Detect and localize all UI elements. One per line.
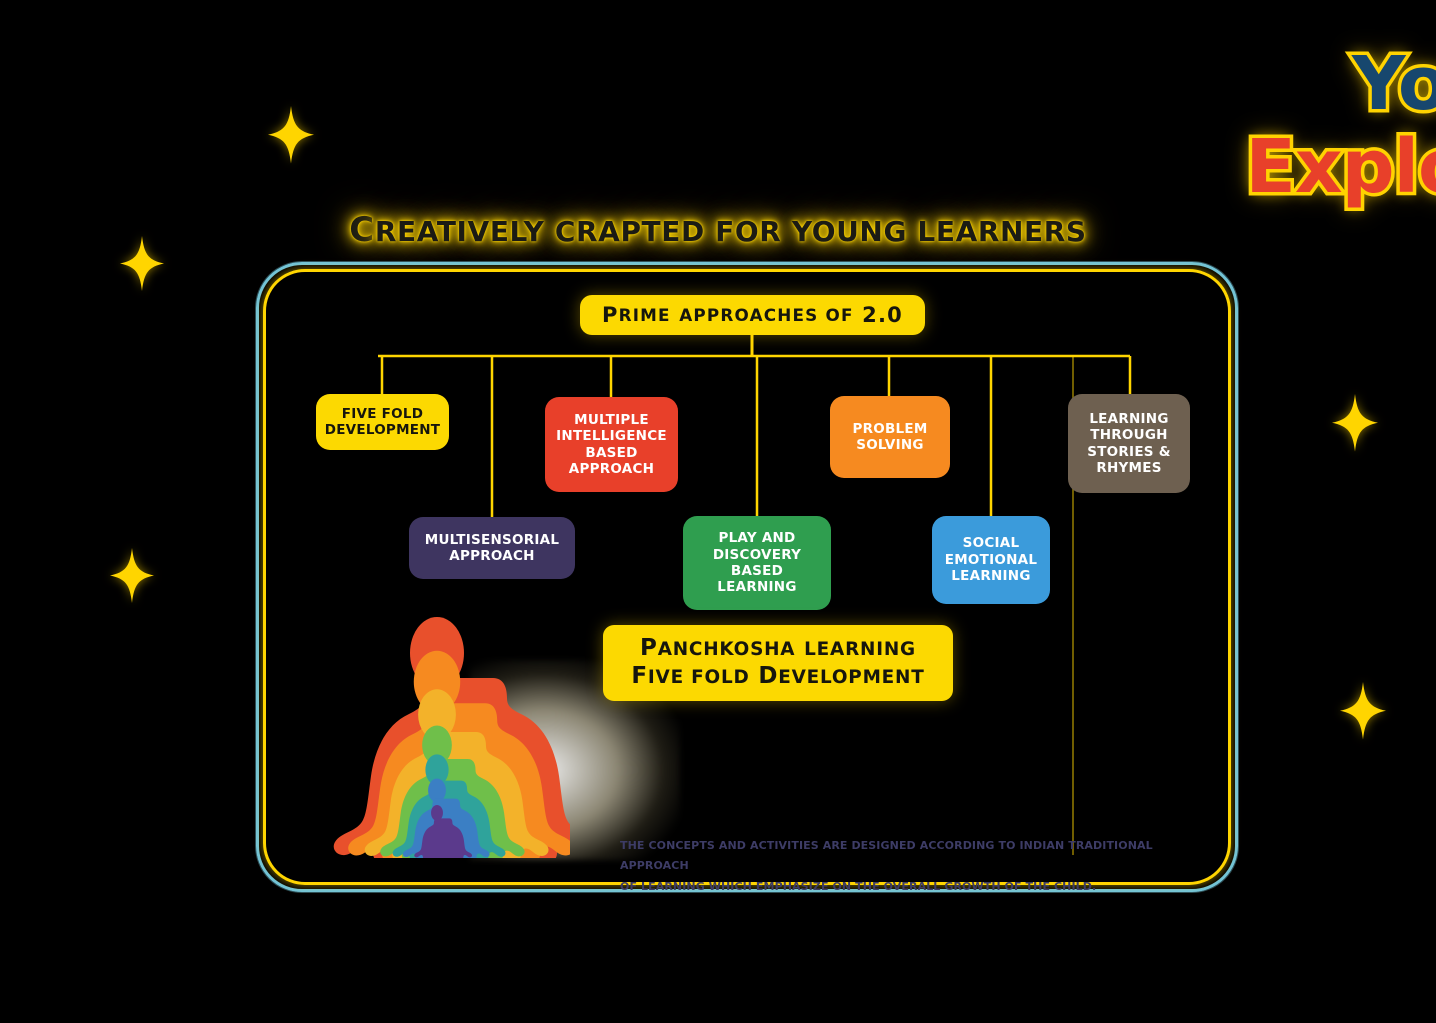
- prime-label-mid: APPROACHES OF: [679, 305, 853, 325]
- node-play-and-discovery[interactable]: PLAY ANDDISCOVERYBASEDLEARNING: [683, 516, 831, 610]
- node-problem-solving[interactable]: PROBLEMSOLVING: [830, 396, 950, 478]
- prime-label-version: 2.0: [862, 303, 903, 327]
- node-learning-through-stories[interactable]: LEARNINGTHROUGHSTORIES &RHYMES: [1068, 394, 1190, 493]
- node-multiple-intelligence[interactable]: MULTIPLEINTELLIGENCEBASEDAPPROACH: [545, 397, 678, 492]
- prime-label-rest: RIME: [619, 305, 671, 325]
- sparkle-star-icon: [1332, 394, 1378, 452]
- footer-note: THE CONCEPTS AND ACTIVITIES ARE DESIGNED…: [620, 836, 1220, 897]
- page-subtitle: CREATIVELY CRAPTED FOR YOUNG LEARNERS: [0, 210, 1436, 250]
- subtitle-text: REATIVELY CRAPTED FOR YOUNG LEARNERS: [375, 215, 1087, 248]
- node-label: MULTISENSORIALAPPROACH: [425, 532, 559, 565]
- subtitle-initial: C: [349, 210, 375, 250]
- node-label: PROBLEMSOLVING: [852, 421, 927, 454]
- node-five-fold-development[interactable]: FIVE FOLDDEVELOPMENT: [316, 394, 449, 450]
- fivefold-rest: IVE FOLD: [648, 667, 750, 688]
- prime-label-initial: P: [602, 303, 619, 327]
- fivefold-initial: F: [631, 663, 648, 689]
- sparkle-star-icon: [110, 548, 154, 603]
- page-title-explorer: Explorer: [1188, 132, 1436, 202]
- node-social-emotional-learning[interactable]: SOCIALEMOTIONALLEARNING: [932, 516, 1050, 604]
- sparkle-star-icon: [268, 106, 314, 164]
- development-rest: EVELOPMENT: [778, 667, 924, 688]
- node-label: MULTIPLEINTELLIGENCEBASEDAPPROACH: [556, 412, 667, 478]
- panchkosha-line-1: PANCHKOSHA LEARNING: [640, 636, 916, 662]
- footer-line-1: THE CONCEPTS AND ACTIVITIES ARE DESIGNED…: [620, 836, 1220, 877]
- panchkosha-initial: P: [640, 635, 658, 661]
- meditating-lotus-figure-icon: [305, 608, 570, 858]
- prime-approaches-header: PRIME APPROACHES OF 2.0: [580, 295, 925, 335]
- footer-line-2: OF LEARNING WHICH EMPHASIZE ON THE OVERA…: [620, 877, 1220, 897]
- node-label: PLAY ANDDISCOVERYBASEDLEARNING: [713, 530, 801, 596]
- page-title-young: Young: [1273, 49, 1436, 119]
- node-label: LEARNINGTHROUGHSTORIES &RHYMES: [1087, 411, 1171, 477]
- development-initial: D: [758, 663, 778, 689]
- panchkosha-line-2: FIVE FOLD DEVELOPMENT: [631, 664, 924, 690]
- panchkosha-banner: PANCHKOSHA LEARNING FIVE FOLD DEVELOPMEN…: [603, 625, 953, 701]
- node-label: FIVE FOLDDEVELOPMENT: [325, 406, 441, 439]
- panchkosha-rest: ANCHKOSHA: [658, 639, 796, 660]
- node-label: SOCIALEMOTIONALLEARNING: [945, 535, 1037, 584]
- page-header: Young Explorer 2.0: [0, 14, 1436, 32]
- panchkosha-word2: LEARNING: [804, 639, 916, 660]
- node-multisensorial-approach[interactable]: MULTISENSORIALAPPROACH: [409, 517, 575, 579]
- sparkle-star-icon: [1340, 682, 1386, 740]
